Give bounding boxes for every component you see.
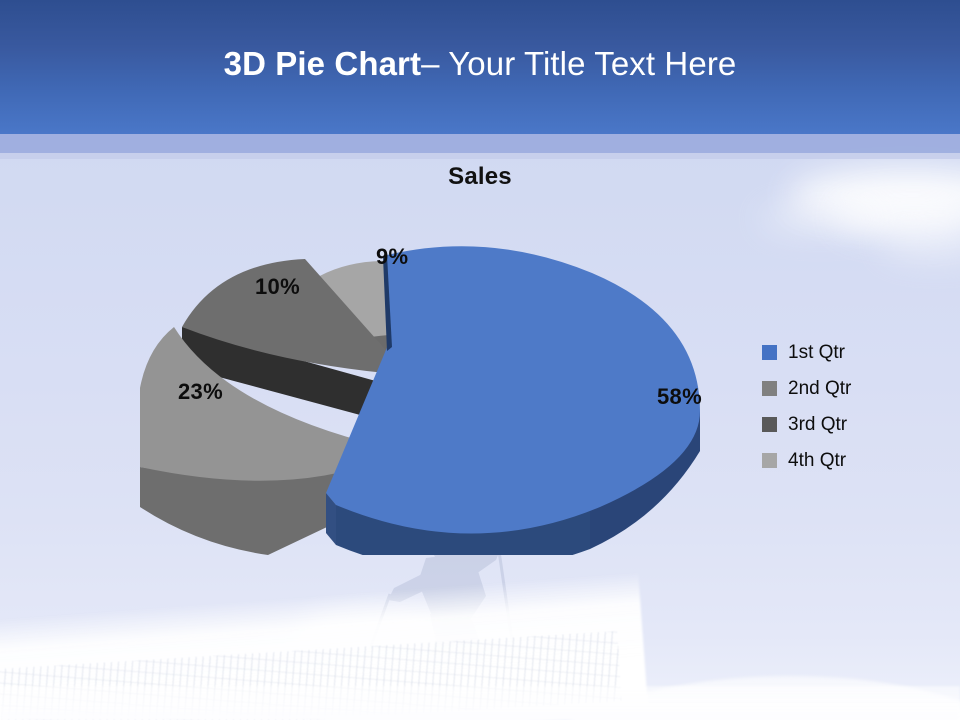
legend-item-3rd-qtr[interactable]: 3rd Qtr	[762, 406, 932, 442]
page-title: 3D Pie Chart– Your Title Text Here	[0, 44, 960, 84]
page-title-strong: 3D Pie Chart	[224, 45, 421, 82]
snow-foreground	[0, 686, 960, 720]
slide-canvas: 3D Pie Chart– Your Title Text Here Sales	[0, 0, 960, 720]
cloud-wisp	[760, 206, 880, 232]
legend-swatch-icon	[762, 381, 777, 396]
pie-data-label-4th-qtr: 9%	[376, 244, 408, 270]
legend-label: 1st Qtr	[788, 343, 845, 362]
legend-label: 4th Qtr	[788, 451, 846, 470]
pie-data-label-1st-qtr: 58%	[657, 384, 702, 410]
legend-label: 3rd Qtr	[788, 415, 847, 434]
pie-data-label-3rd-qtr: 10%	[255, 274, 300, 300]
legend-swatch-icon	[762, 345, 777, 360]
legend-swatch-icon	[762, 453, 777, 468]
page-title-rest: – Your Title Text Here	[421, 45, 736, 82]
legend-item-4th-qtr[interactable]: 4th Qtr	[762, 442, 932, 478]
legend-label: 2nd Qtr	[788, 379, 851, 398]
legend-item-2nd-qtr[interactable]: 2nd Qtr	[762, 370, 932, 406]
chart-title: Sales	[0, 163, 960, 191]
title-banner-accent-strip-secondary	[0, 153, 960, 159]
pie-data-label-2nd-qtr: 23%	[178, 379, 223, 405]
chart-legend: 1st Qtr 2nd Qtr 3rd Qtr 4th Qtr	[762, 334, 932, 478]
legend-item-1st-qtr[interactable]: 1st Qtr	[762, 334, 932, 370]
title-banner-accent-strip	[0, 134, 960, 153]
legend-swatch-icon	[762, 417, 777, 432]
